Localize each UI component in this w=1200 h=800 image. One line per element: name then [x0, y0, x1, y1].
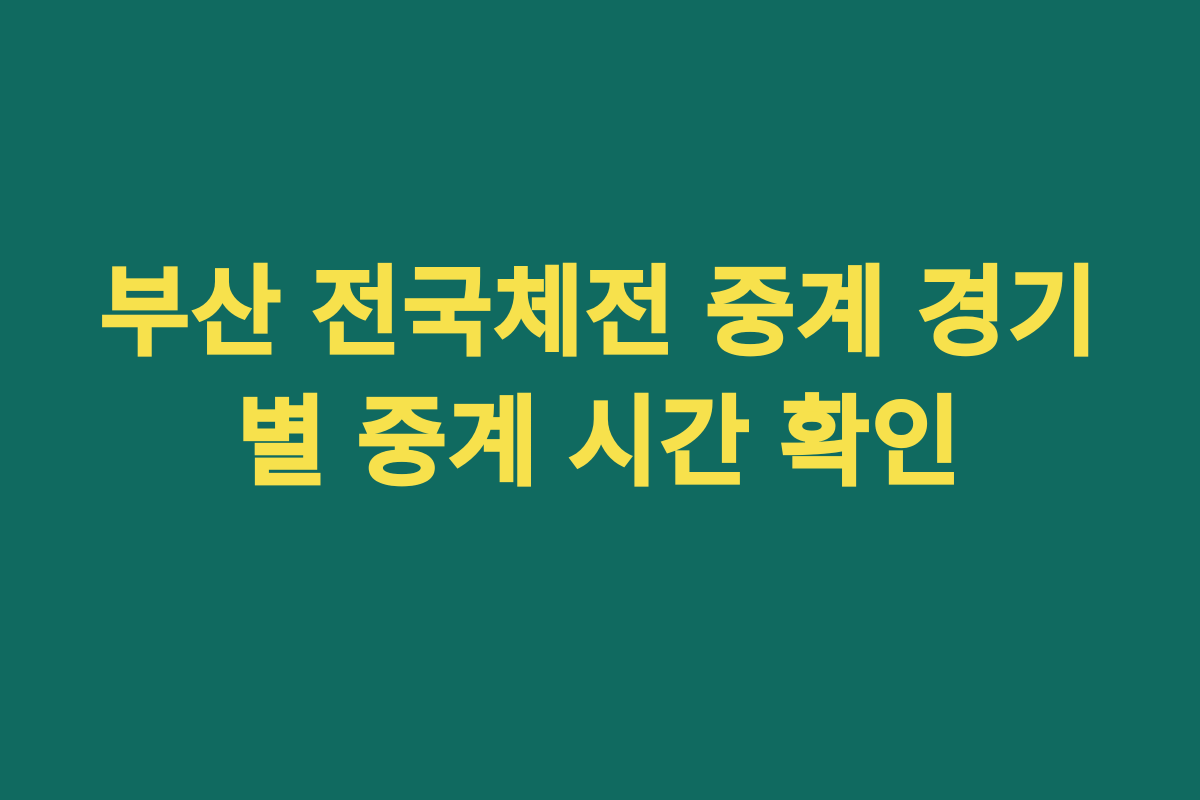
headline-line-1: 부산 전국체전 중계 경기 [0, 248, 1200, 378]
banner-background: 부산 전국체전 중계 경기 별 중계 시간 확인 [0, 0, 1200, 800]
headline-text-block: 부산 전국체전 중계 경기 별 중계 시간 확인 [0, 248, 1200, 508]
headline-line-2: 별 중계 시간 확인 [0, 378, 1200, 508]
